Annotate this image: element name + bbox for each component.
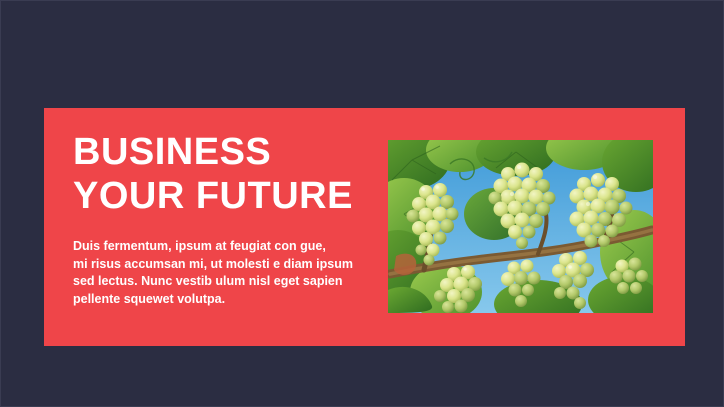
slide-canvas: BUSINESS YOUR FUTURE Duis fermentum, ips… bbox=[0, 0, 724, 407]
body-line-2: mi risus accumsan mi, ut molesti e diam … bbox=[73, 256, 393, 274]
grapes-on-vine-photo bbox=[388, 140, 653, 313]
red-content-panel: BUSINESS YOUR FUTURE Duis fermentum, ips… bbox=[44, 108, 685, 346]
body-paragraph: Duis fermentum, ipsum at feugiat con gue… bbox=[73, 238, 393, 308]
body-line-4: pellente squewet volutpa. bbox=[73, 291, 393, 309]
headline-line-1: BUSINESS bbox=[73, 130, 393, 174]
headline-line-2: YOUR FUTURE bbox=[73, 174, 393, 218]
body-line-1: Duis fermentum, ipsum at feugiat con gue… bbox=[73, 238, 393, 256]
body-line-3: sed lectus. Nunc vestib ulum nisl eget s… bbox=[73, 273, 393, 291]
text-column: BUSINESS YOUR FUTURE Duis fermentum, ips… bbox=[73, 130, 393, 308]
